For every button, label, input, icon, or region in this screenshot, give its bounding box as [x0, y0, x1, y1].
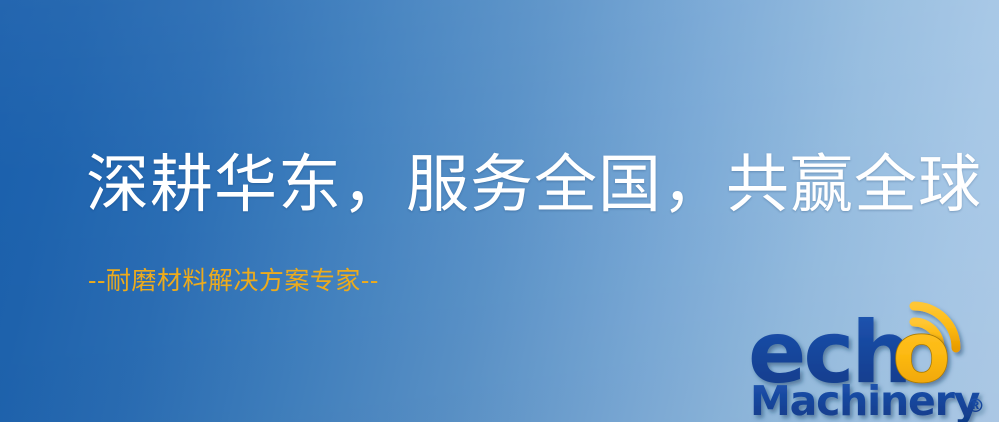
hero-banner: 深耕华东，服务全国，共赢全球 --耐磨材料解决方案专家-- [0, 0, 999, 422]
registered-trademark-icon: ® [966, 395, 985, 417]
logo-text-machinery: Machinery [750, 377, 980, 422]
banner-headline: 深耕华东，服务全国，共赢全球 [86, 152, 982, 218]
echo-machinery-logo[interactable]: ech o Machinery ® [744, 296, 999, 422]
banner-subtitle: --耐磨材料解决方案专家-- [88, 266, 379, 296]
